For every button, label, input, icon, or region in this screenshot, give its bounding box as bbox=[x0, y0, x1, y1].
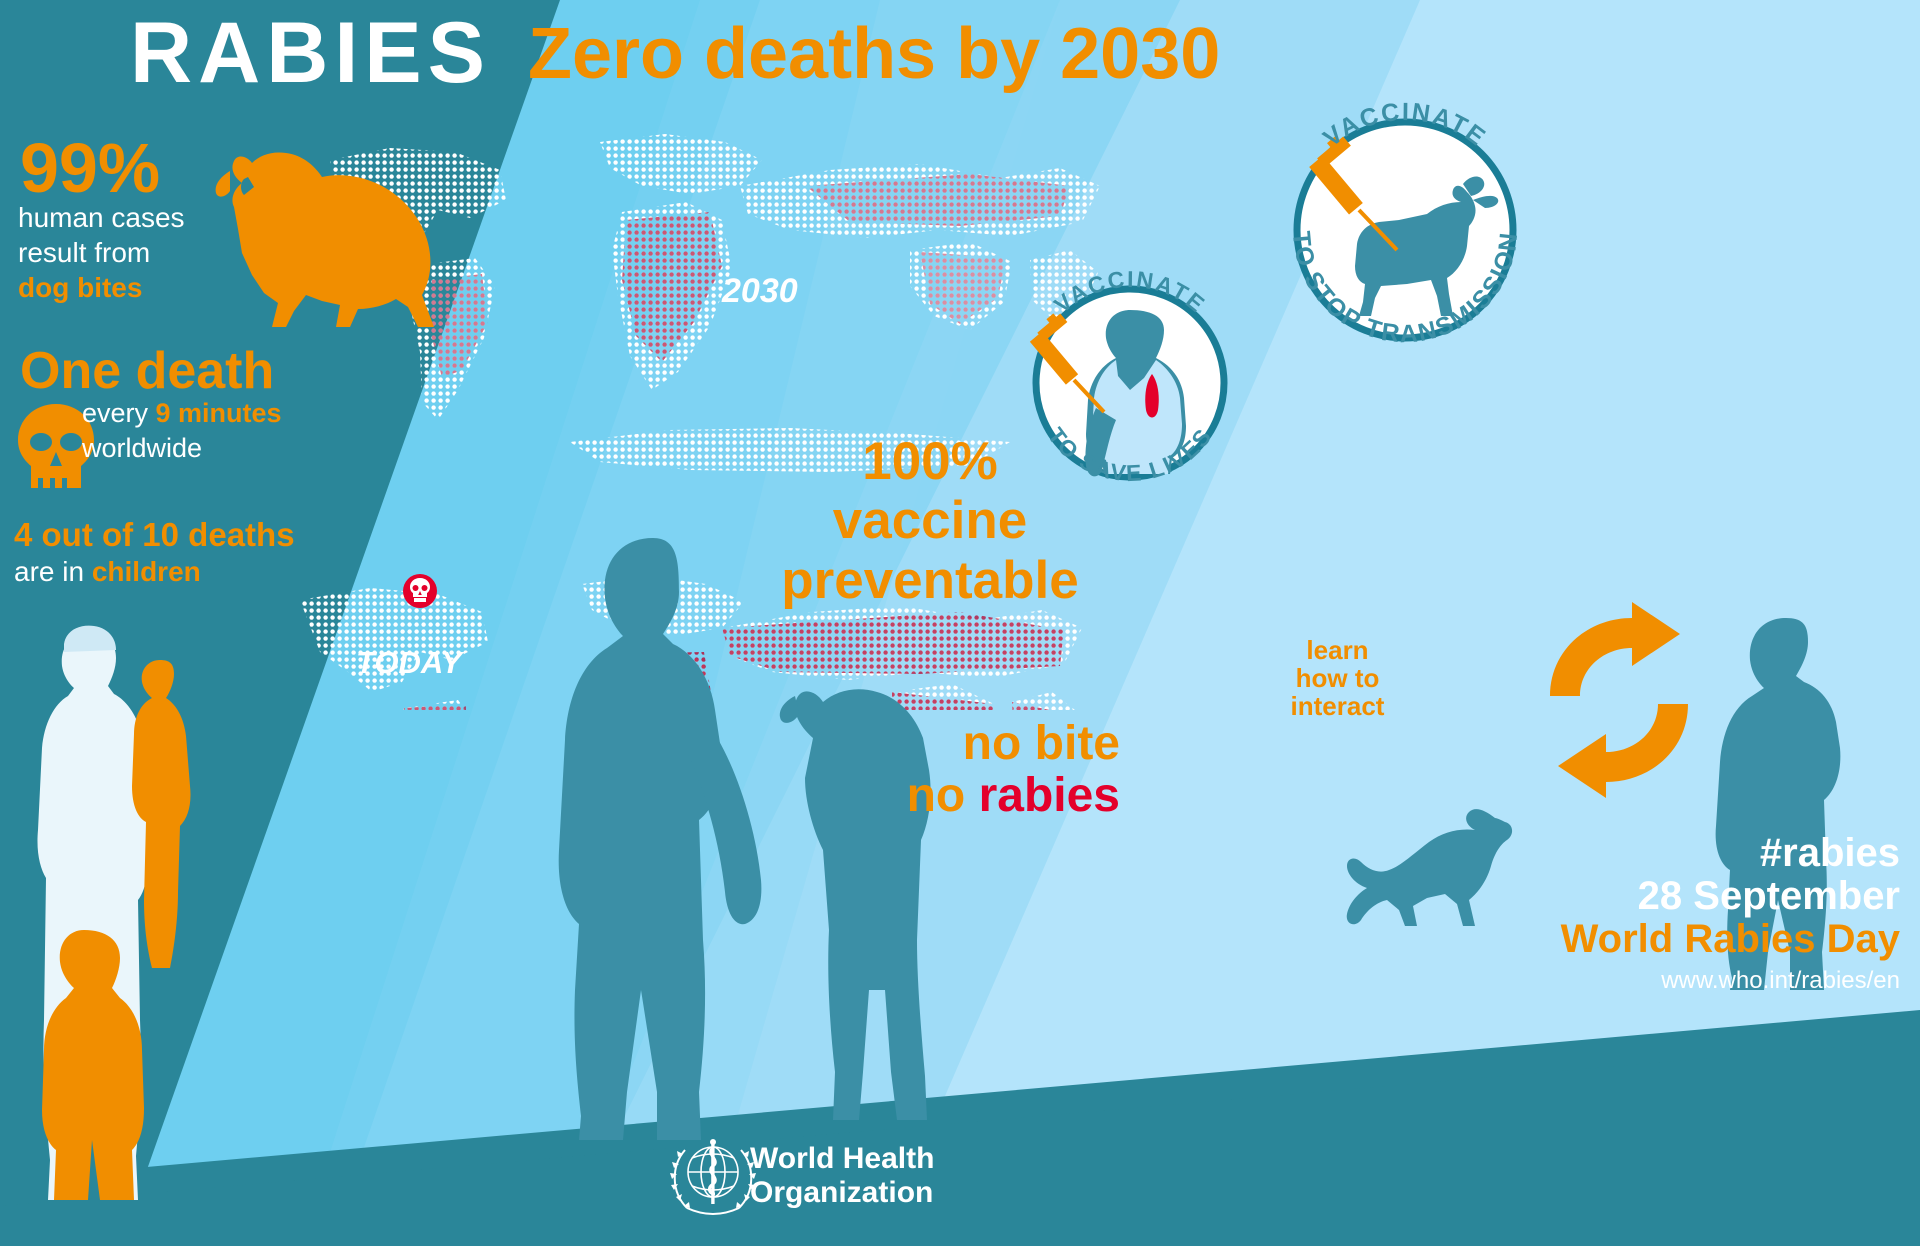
interact-label: learn how to interact bbox=[1285, 636, 1390, 720]
children-caption-highlight: children bbox=[92, 556, 201, 587]
badge-vaccinate-to-stop-transmission: VACCINATE TO STOP TRANSMISSION bbox=[1255, 80, 1555, 380]
woman-and-dog-silhouette bbox=[545, 520, 965, 1140]
no-rabies-rabies: rabies bbox=[979, 769, 1120, 822]
dog-silhouette-icon bbox=[190, 135, 450, 335]
children-caption-pre: are in bbox=[14, 556, 92, 587]
footer-hashtag: #rabies bbox=[1561, 832, 1900, 875]
footer-campaign-block: #rabies 28 September World Rabies Day ww… bbox=[1561, 832, 1900, 993]
interact-arrows-icon bbox=[1510, 600, 1730, 800]
stat-99-line1: human cases bbox=[18, 200, 208, 235]
no-rabies-line: no rabies bbox=[830, 770, 1120, 822]
vaccine-line3: preventable bbox=[760, 551, 1100, 610]
who-line1: World Health bbox=[750, 1142, 934, 1176]
who-line2: Organization bbox=[750, 1176, 934, 1210]
interact-line3: interact bbox=[1285, 692, 1390, 720]
headline: Zero deaths by 2030 bbox=[528, 18, 1220, 90]
stat-one-death-headline: One death bbox=[20, 345, 274, 397]
page-title: RABIES bbox=[130, 10, 491, 96]
stat-one-death-line2: worldwide bbox=[82, 431, 312, 466]
stat-99-line2: result from bbox=[18, 235, 208, 270]
stat-99-line3: dog bites bbox=[18, 270, 208, 305]
no-bite-no-rabies-message: no bite no rabies bbox=[830, 718, 1120, 822]
rabies-infographic-poster: RABIES Zero deaths by 2030 99% human cas… bbox=[0, 0, 1920, 1246]
who-wordmark: World Health Organization bbox=[750, 1142, 934, 1209]
stat-one-death-caption: every 9 minutes worldwide bbox=[82, 396, 312, 466]
death-line1-highlight: 9 minutes bbox=[156, 398, 282, 428]
interact-line1: learn bbox=[1285, 636, 1390, 664]
no-bite-bite: bite bbox=[1035, 717, 1120, 770]
stat-99-percent-value: 99% bbox=[20, 133, 160, 203]
death-line1-pre: every bbox=[82, 398, 156, 428]
map-label-2030: 2030 bbox=[722, 272, 798, 311]
footer-url[interactable]: www.who.int/rabies/en bbox=[1561, 962, 1900, 994]
playing-dog-silhouette bbox=[1335, 800, 1525, 930]
footer-date: 28 September bbox=[1561, 875, 1900, 918]
no-bite-no: no bbox=[963, 717, 1022, 770]
skull-map-marker-icon bbox=[400, 570, 440, 614]
interact-line2: how to bbox=[1285, 664, 1390, 692]
vaccine-line1: 100% bbox=[760, 432, 1100, 491]
map-label-today: TODAY bbox=[356, 645, 462, 681]
family-silhouette-icon bbox=[10, 600, 230, 1220]
stat-children-headline: 4 out of 10 deaths bbox=[14, 518, 295, 551]
no-bite-line: no bite bbox=[830, 718, 1120, 770]
stat-one-death-line1: every 9 minutes bbox=[82, 396, 312, 431]
vaccine-preventable-message: 100% vaccine preventable bbox=[760, 432, 1100, 610]
who-emblem-icon bbox=[665, 1128, 761, 1224]
footer-day-name: World Rabies Day bbox=[1561, 918, 1900, 961]
stat-children-caption: are in children bbox=[14, 558, 201, 586]
no-rabies-no: no bbox=[907, 769, 966, 822]
vaccine-line2: vaccine bbox=[760, 491, 1100, 550]
stat-99-percent-caption: human cases result from dog bites bbox=[18, 200, 208, 305]
